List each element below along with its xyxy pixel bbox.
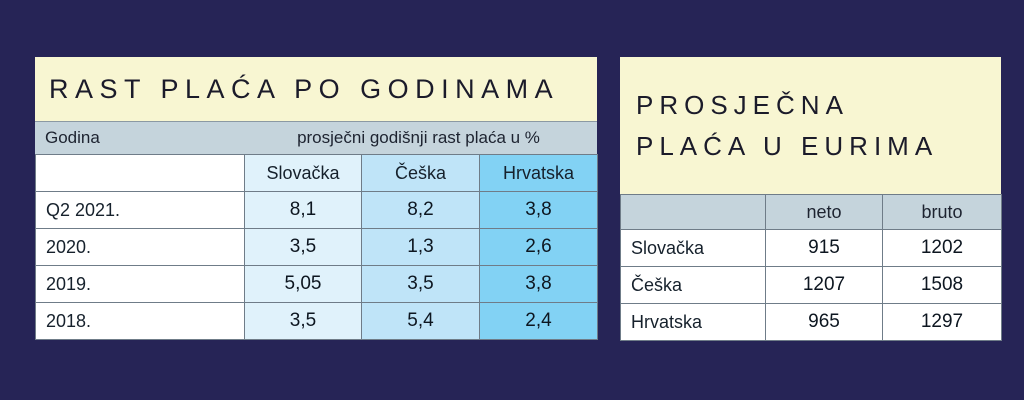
left-table-title: RAST PLAĆA PO GODINAMA	[49, 74, 559, 105]
row-value-neto: 965	[766, 304, 883, 341]
salary-growth-table: Slovačka Češka Hrvatska Q2 2021. 8,1 8,2…	[35, 154, 598, 340]
table-row: Slovačka 915 1202	[621, 230, 1002, 267]
row-value-slovacka: 8,1	[245, 192, 362, 229]
table-header-row: neto bruto	[621, 195, 1002, 230]
row-year-label: 2020.	[36, 229, 245, 266]
right-table-title-line2: PLAĆA U EURIMA	[636, 126, 938, 166]
row-value-ceska: 5,4	[362, 303, 480, 340]
table-row: 2020. 3,5 1,3 2,6	[36, 229, 598, 266]
row-value-neto: 1207	[766, 267, 883, 304]
column-header-neto: neto	[766, 195, 883, 230]
left-table-subheader: Godina prosječni godišnji rast plaća u %	[35, 121, 597, 154]
row-value-hrvatska: 2,6	[480, 229, 598, 266]
row-value-slovacka: 3,5	[245, 303, 362, 340]
row-value-slovacka: 5,05	[245, 266, 362, 303]
row-value-hrvatska: 2,4	[480, 303, 598, 340]
column-header-slovacka: Slovačka	[245, 155, 362, 192]
row-year-label: Q2 2021.	[36, 192, 245, 229]
table-header-row: Slovačka Češka Hrvatska	[36, 155, 598, 192]
subheader-year-label: Godina	[35, 128, 244, 148]
corner-cell	[621, 195, 766, 230]
table-row: 2019. 5,05 3,5 3,8	[36, 266, 598, 303]
salary-growth-table-panel: RAST PLAĆA PO GODINAMA Godina prosječni …	[35, 57, 597, 340]
row-country-label: Hrvatska	[621, 304, 766, 341]
row-country-label: Češka	[621, 267, 766, 304]
subheader-growth-label: prosječni godišnji rast plaća u %	[244, 128, 597, 148]
row-value-bruto: 1297	[883, 304, 1002, 341]
row-year-label: 2019.	[36, 266, 245, 303]
table-row: Češka 1207 1508	[621, 267, 1002, 304]
row-value-hrvatska: 3,8	[480, 192, 598, 229]
row-value-slovacka: 3,5	[245, 229, 362, 266]
row-country-label: Slovačka	[621, 230, 766, 267]
row-value-bruto: 1202	[883, 230, 1002, 267]
row-value-hrvatska: 3,8	[480, 266, 598, 303]
column-header-hrvatska: Hrvatska	[480, 155, 598, 192]
left-table-title-band: RAST PLAĆA PO GODINAMA	[35, 57, 597, 121]
row-value-bruto: 1508	[883, 267, 1002, 304]
table-row: Hrvatska 965 1297	[621, 304, 1002, 341]
row-value-ceska: 8,2	[362, 192, 480, 229]
average-salary-table-panel: PROSJEČNA PLAĆA U EURIMA neto bruto Slov…	[620, 57, 1001, 340]
row-value-ceska: 1,3	[362, 229, 480, 266]
row-value-ceska: 3,5	[362, 266, 480, 303]
row-value-neto: 915	[766, 230, 883, 267]
column-header-ceska: Češka	[362, 155, 480, 192]
right-table-title-band: PROSJEČNA PLAĆA U EURIMA	[620, 57, 1001, 194]
column-header-bruto: bruto	[883, 195, 1002, 230]
table-row: Q2 2021. 8,1 8,2 3,8	[36, 192, 598, 229]
average-salary-table: neto bruto Slovačka 915 1202 Češka 1207 …	[620, 194, 1002, 341]
table-row: 2018. 3,5 5,4 2,4	[36, 303, 598, 340]
row-year-label: 2018.	[36, 303, 245, 340]
right-table-title-line1: PROSJEČNA	[636, 85, 849, 125]
corner-cell	[36, 155, 245, 192]
